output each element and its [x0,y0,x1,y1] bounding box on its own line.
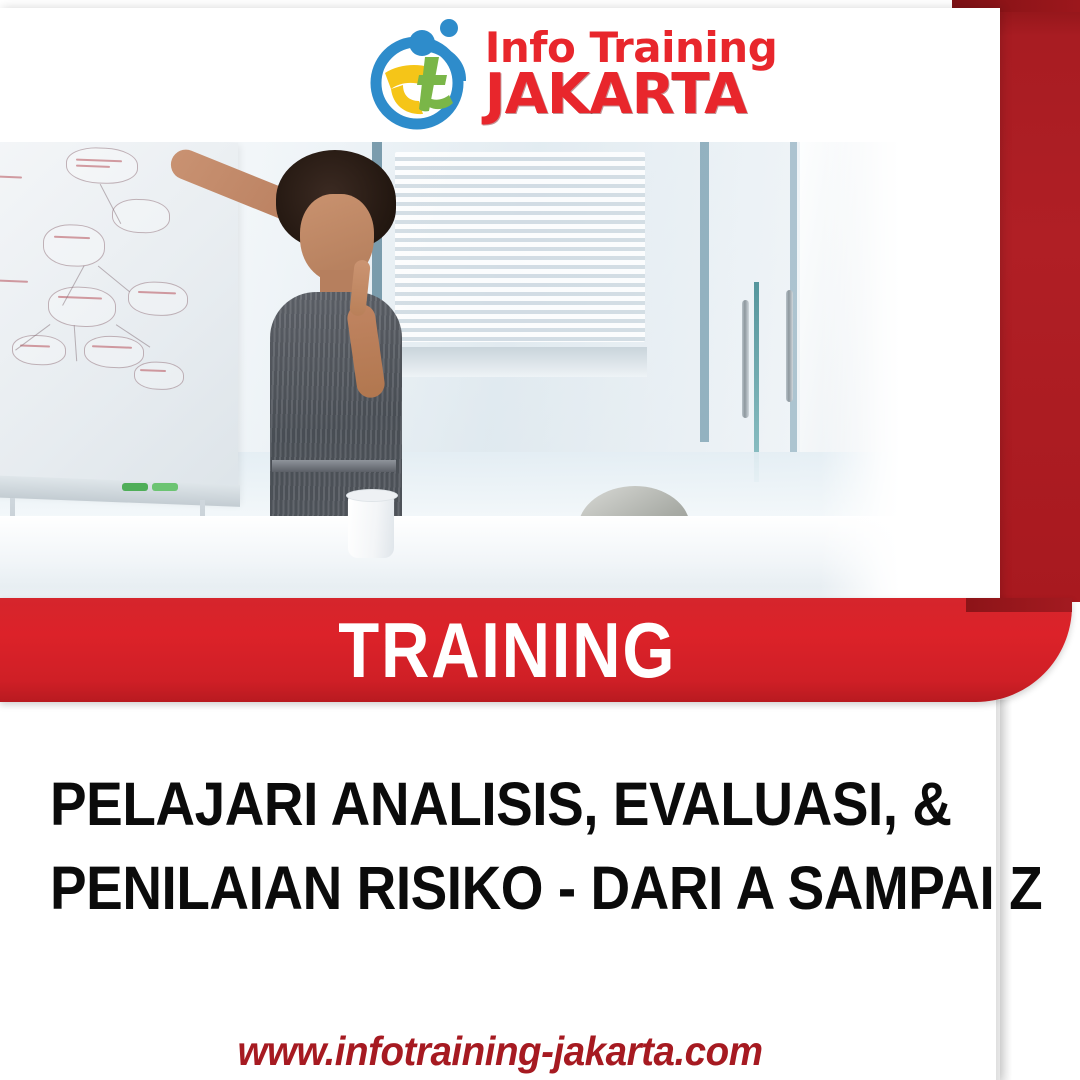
headline-line-1: PELAJARI ANALISIS, EVALUASI, & [50,762,950,846]
mindmap-node [112,198,170,234]
window-mullion-2 [700,142,709,442]
mindmap-node [128,281,188,317]
mindmap-node [12,334,66,366]
door-handle-2 [786,290,793,402]
brand-wordmark: Info Training JAKARTA [485,28,778,122]
door-handle-1 [742,300,749,418]
mindmap-node [134,361,184,391]
brand-logo[interactable]: Info Training JAKARTA [367,19,778,131]
presenter-belt [272,460,396,472]
coffee-cup-rim [346,489,398,502]
whiteboard-marker [152,483,178,491]
board-scribble [0,175,22,178]
headline-line-2: PENILAIAN RISIKO - DARI A SAMPAI Z [50,846,950,930]
banner-top-shadow [966,598,1072,612]
training-banner: TRAINING [0,598,1072,702]
website-url[interactable]: www.infotraining-jakarta.com [30,1028,970,1075]
coffee-cup [348,496,394,558]
mindmap-link [98,266,130,293]
banner-title: TRAINING [338,605,676,696]
page-title: PELAJARI ANALISIS, EVALUASI, & PENILAIAN… [0,762,1000,930]
photo-right-vignette [820,142,900,602]
brand-name-line2: JAKARTA [485,69,778,122]
poster-header: Info Training JAKARTA [0,8,1000,142]
flipchart-board [0,142,238,503]
mindmap-node [84,335,144,369]
mindmap-node [43,223,105,267]
mindmap-link [73,325,77,361]
mindmap-node [48,286,116,329]
business-training-meeting-photo [0,142,900,602]
window-sill [392,347,647,377]
board-scribble [0,279,28,282]
window-blind [395,152,645,342]
training-flyer-poster: Info Training JAKARTA [0,0,1080,1080]
it-circle-logo-icon [367,19,475,131]
whiteboard-marker [122,483,148,491]
